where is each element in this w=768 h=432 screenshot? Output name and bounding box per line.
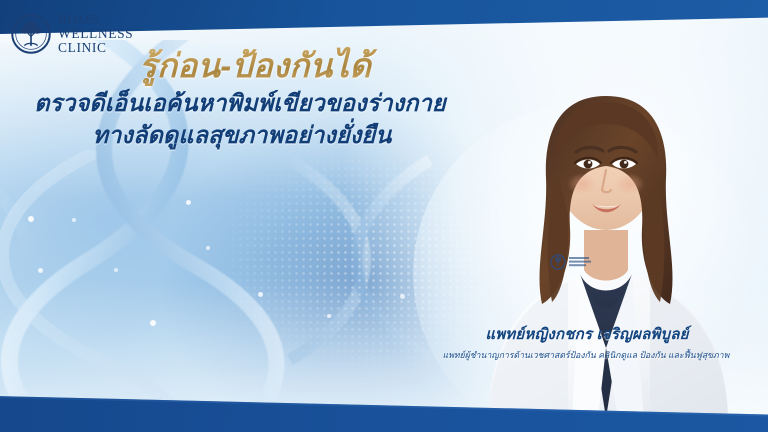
brand-name-line-2: WELLNESS (58, 27, 133, 41)
particle-dot (150, 320, 156, 326)
particle-dot (186, 200, 191, 205)
particle-dot (327, 314, 331, 318)
particle-dot (206, 246, 210, 250)
headline-secondary: ตรวจดีเอ็นเอค้นหาพิมพ์เขียวของร่างกาย (0, 88, 480, 119)
particle-dot (400, 294, 405, 299)
doctor-title: แพทย์ผู้ชำนาญการด้านเวชศาสตร์ป้องกัน คลิ… (412, 348, 760, 362)
particle-dot (72, 218, 76, 222)
headline-primary: รู้ก่อน-ป้องกันได้ (0, 46, 480, 86)
headline-tertiary: ทางลัดดูแลสุขภาพอย่างยั่งยืน (0, 120, 480, 151)
headline-block: รู้ก่อน-ป้องกันได้ ตรวจดีเอ็นเอค้นหาพิมพ… (0, 46, 480, 150)
particle-dot (38, 268, 43, 273)
particle-dot (114, 268, 118, 272)
brand-name-line-1: BDMS (58, 13, 133, 27)
particle-dot (28, 216, 34, 222)
particle-dot (258, 292, 263, 297)
doctor-name: แพทย์หญิงกชกร เจริญผลพิบูลย์ (422, 322, 752, 346)
promo-banner: BDMS WELLNESS CLINIC รู้ก่อน-ป้องกันได้ … (0, 0, 768, 432)
